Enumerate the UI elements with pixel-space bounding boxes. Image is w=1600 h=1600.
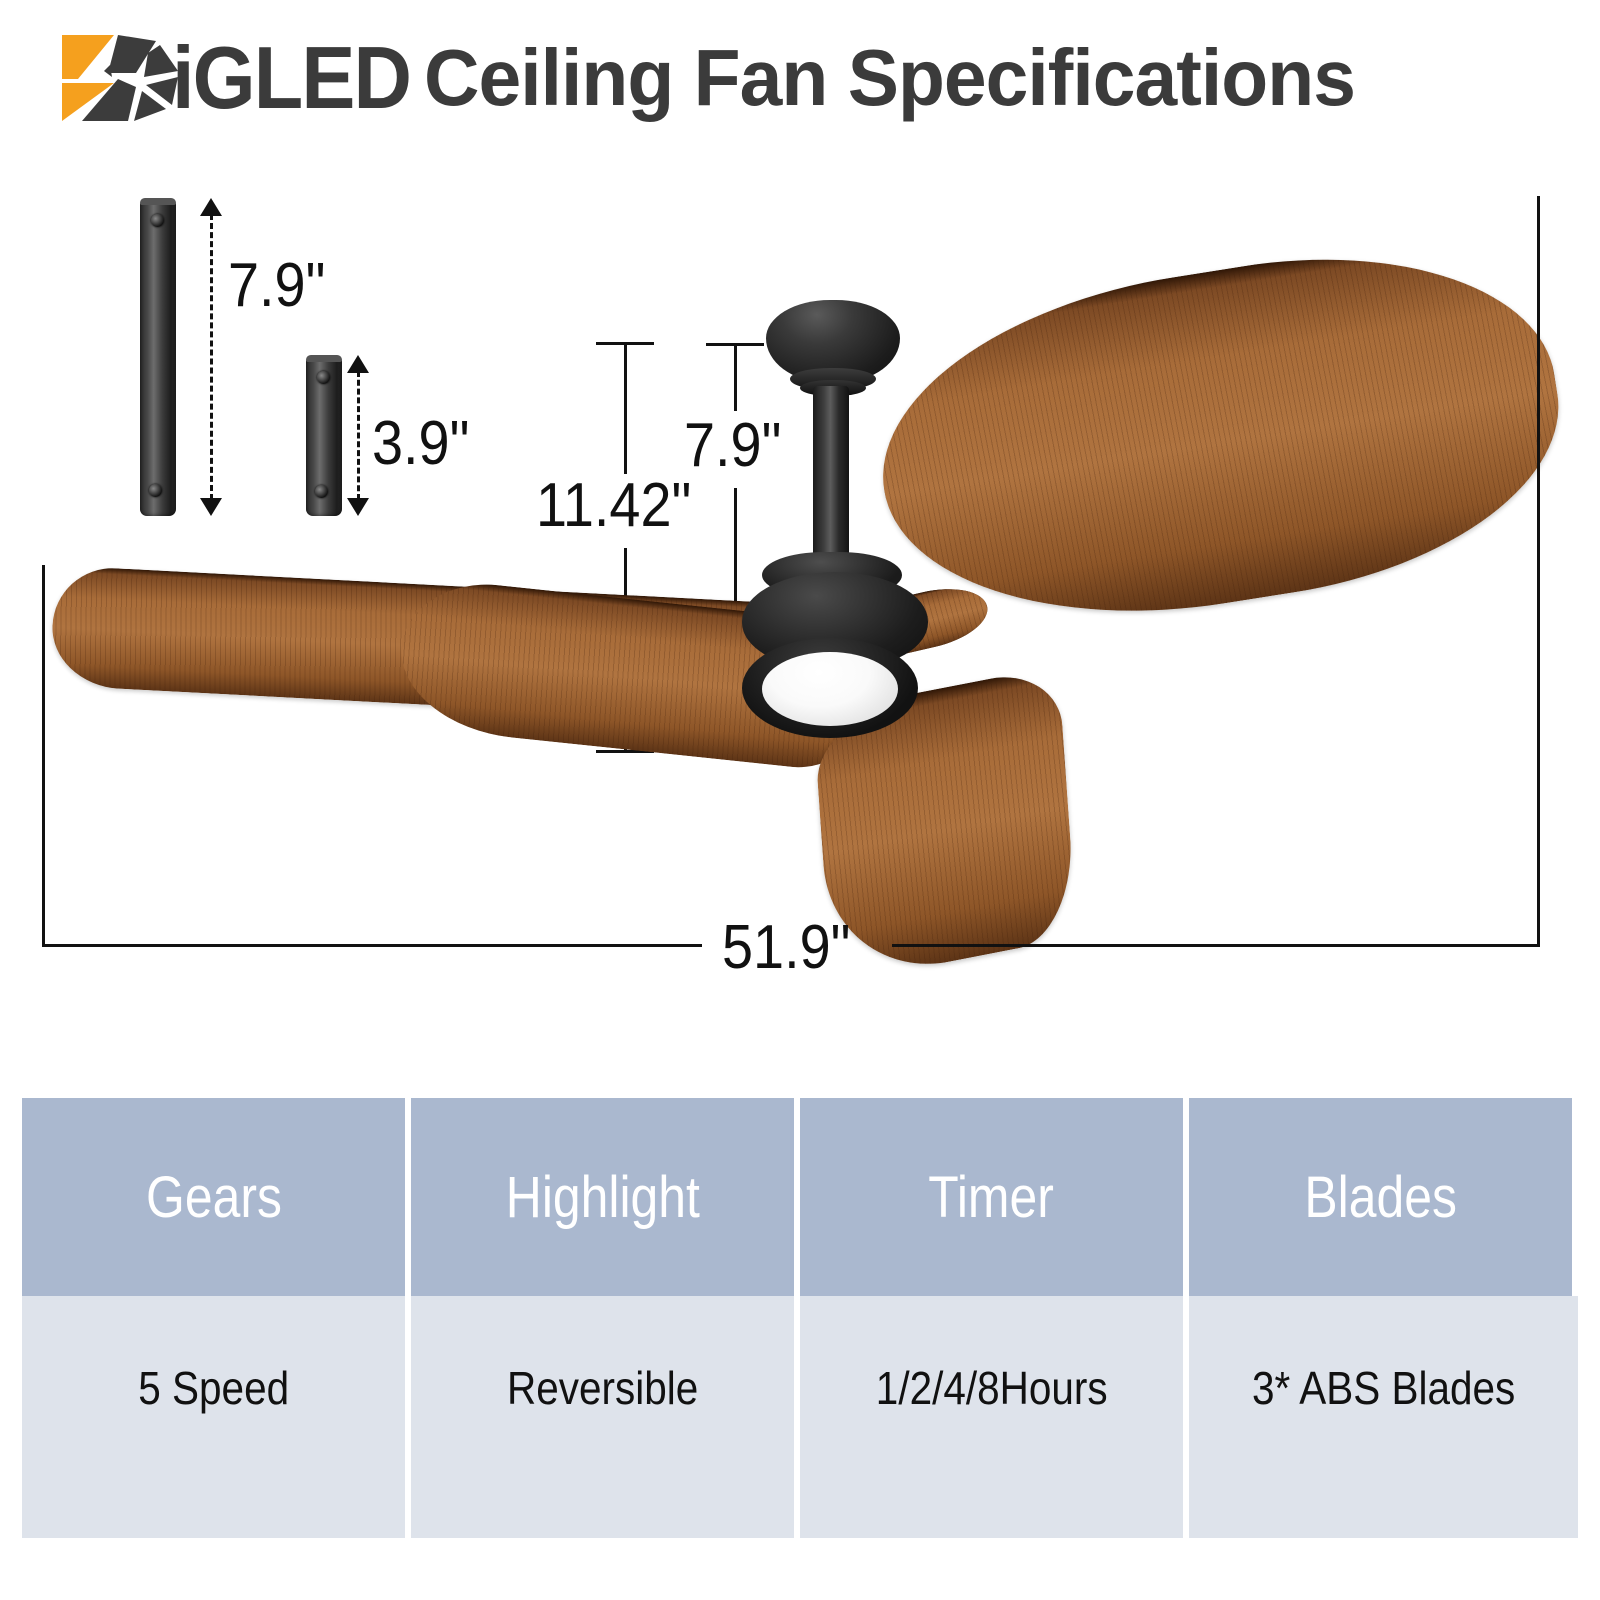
table-header-blades: Blades	[1189, 1098, 1578, 1296]
table-header-timer: Timer	[800, 1098, 1189, 1296]
table-header-blades-label: Blades	[1304, 1164, 1457, 1231]
table-cell-blades-value: 3* ABS Blades	[1252, 1361, 1515, 1415]
dim-line-span-right	[892, 944, 1540, 947]
dim-arrow-down-long-rod	[200, 498, 222, 516]
dim-arrow-down-short-rod	[347, 498, 369, 516]
specifications-table: Gears Highlight Timer Blades 5 Speed Rev…	[22, 1098, 1578, 1538]
dim-label-downrod-short: 3.9"	[372, 408, 469, 479]
table-header-timer-label: Timer	[929, 1164, 1055, 1231]
table-header-gears: Gears	[22, 1098, 411, 1296]
dim-line-short-rod	[357, 371, 360, 500]
table-cell-gears: 5 Speed	[22, 1296, 411, 1538]
table-cell-highlight-value: Reversible	[507, 1361, 698, 1415]
table-cell-timer: 1/2/4/8Hours	[800, 1296, 1189, 1538]
table-cell-timer-value: 1/2/4/8Hours	[876, 1361, 1108, 1415]
specification-sheet: iGLED Ceiling Fan Specifications 7.9" 3.…	[0, 0, 1600, 1600]
dim-label-blade-span: 51.9"	[722, 912, 850, 983]
installed-downrod	[813, 386, 849, 566]
dim-label-downrod-long: 7.9"	[228, 250, 325, 321]
dim-line-mount-lower	[734, 488, 737, 604]
dim-label-total-drop: 11.42"	[536, 470, 691, 541]
dim-line-total-drop-upper	[624, 342, 627, 474]
downrod-long	[140, 198, 176, 516]
dim-line-mount-upper	[734, 343, 737, 411]
dim-label-mount-height: 7.9"	[684, 410, 781, 481]
led-light-lens	[762, 652, 898, 726]
table-header-highlight: Highlight	[411, 1098, 800, 1296]
table-cell-highlight: Reversible	[411, 1296, 800, 1538]
dim-bracket-right-span	[1537, 196, 1540, 947]
fan-dimension-diagram: 7.9" 3.9" 11.42" 7.9"	[0, 0, 1600, 1000]
dim-line-long-rod	[210, 214, 213, 500]
dim-bracket-left-span	[42, 565, 45, 947]
table-header-gears-label: Gears	[146, 1164, 282, 1231]
downrod-short	[306, 355, 342, 516]
table-header-highlight-label: Highlight	[505, 1164, 699, 1231]
dim-line-span-left	[42, 944, 702, 947]
table-cell-gears-value: 5 Speed	[138, 1361, 289, 1415]
table-cell-blades: 3* ABS Blades	[1189, 1296, 1578, 1538]
